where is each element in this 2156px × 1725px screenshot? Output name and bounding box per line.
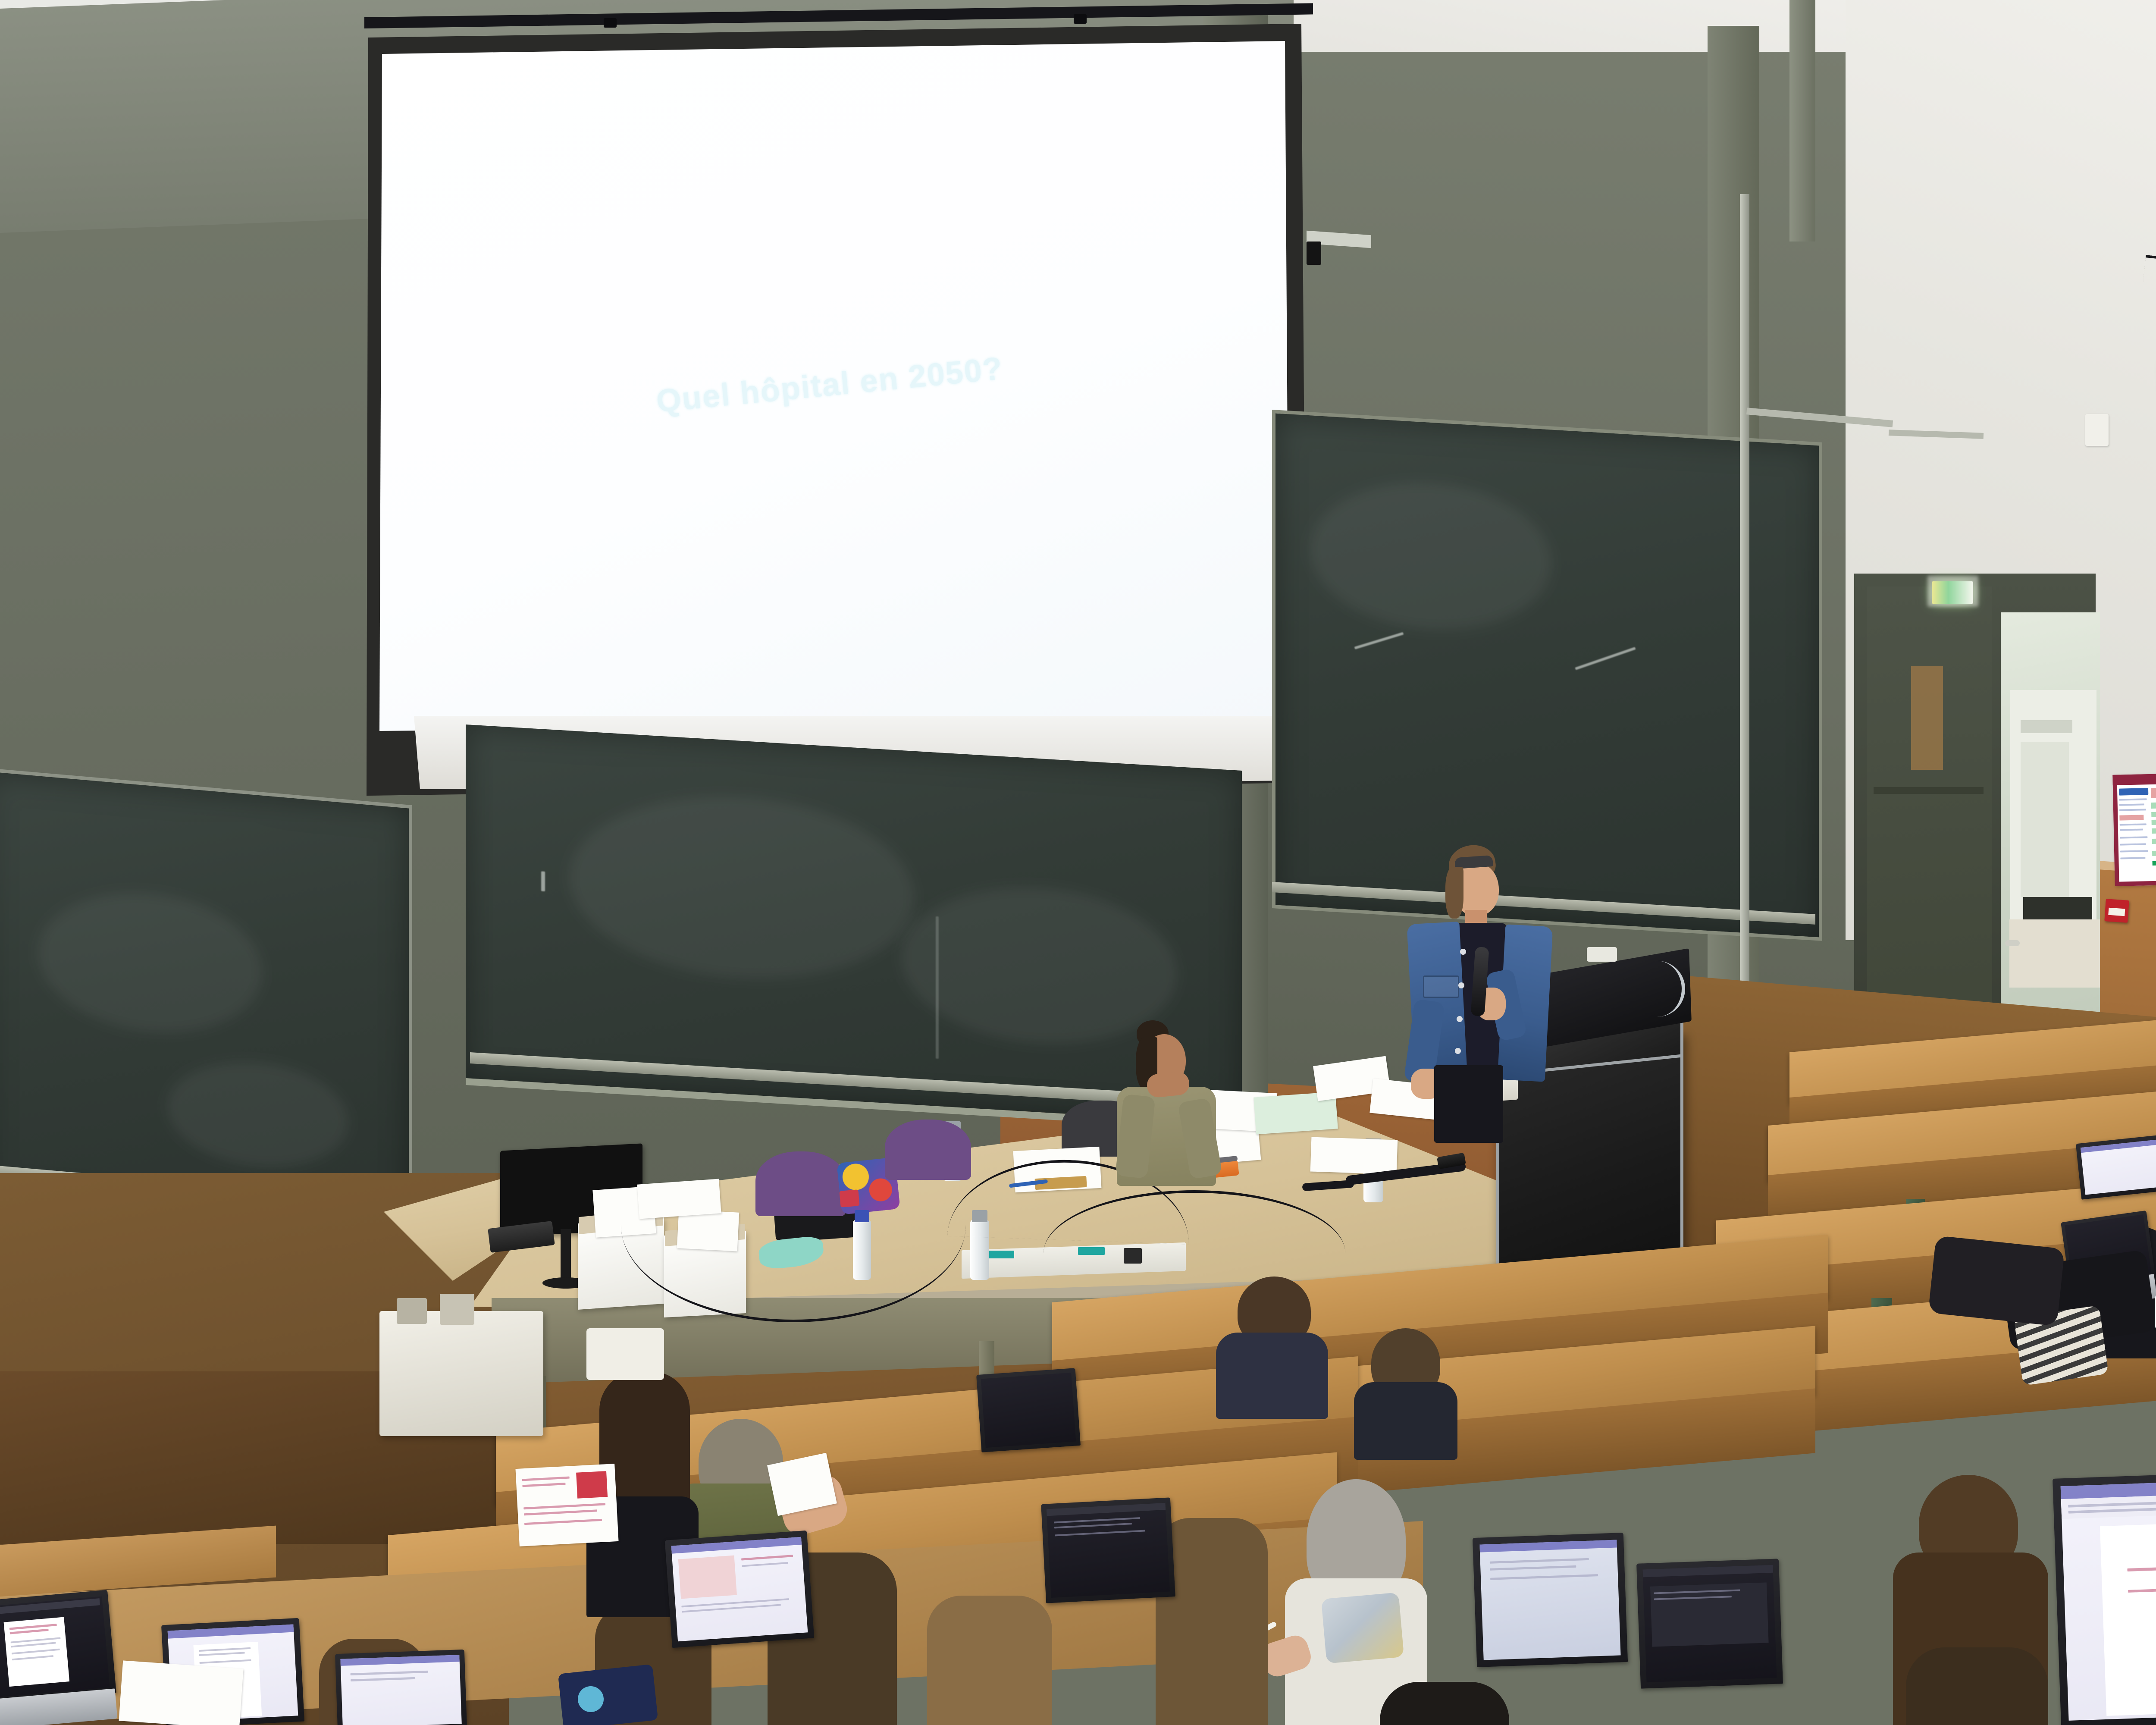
paper-left-desk [637, 1179, 721, 1219]
wall-pillar-upper-right [1789, 0, 1815, 241]
presenter-camera [1587, 947, 1617, 962]
pencil-pouch-foreground [558, 1664, 658, 1725]
laptop-lid-r13[interactable] [2076, 1133, 2156, 1199]
poster-safety-instructions [2112, 773, 2156, 886]
screen-roller-bracket-right [1074, 14, 1087, 24]
presenter-hair-side [1445, 867, 1463, 919]
chalkboard-left [0, 768, 412, 1235]
projector-lens [1307, 241, 1321, 265]
audience-head-14 [1906, 1647, 2048, 1725]
white-board-panel [586, 1328, 664, 1380]
audience-head-10 [927, 1596, 1052, 1725]
cabinet-item-1 [397, 1298, 427, 1324]
laptop-lid-c8[interactable] [1636, 1559, 1783, 1688]
audience-body-16 [1354, 1382, 1457, 1460]
desk-power-panel-tag [987, 1251, 1014, 1258]
cabinet-item-2 [440, 1294, 474, 1325]
presenter-jacket-button-1 [1460, 949, 1466, 955]
handout-left [515, 1464, 618, 1546]
purple-chair-center[interactable] [885, 1120, 971, 1180]
presenter-jacket-button-4 [1455, 1048, 1461, 1054]
water-bottle-left-cap [855, 1210, 869, 1222]
audience-head-13 [1380, 1682, 1509, 1725]
coat-draped-l1 [1928, 1236, 2065, 1326]
laptop-lid-c7[interactable] [1473, 1533, 1628, 1667]
laptop-lid-l4[interactable] [665, 1531, 815, 1648]
light-switch-plate[interactable] [2085, 414, 2109, 446]
laptop-lid-r9[interactable] [2053, 1471, 2156, 1725]
presenter-jacket-pocket [1423, 975, 1459, 998]
presenter-jacket-button-3 [1457, 1016, 1463, 1022]
laptop-lid-c5[interactable] [1041, 1497, 1175, 1603]
fire-alarm-call-point[interactable] [2104, 899, 2129, 923]
presenter-jacket-button-2 [1458, 982, 1464, 988]
red-pouch [839, 1189, 859, 1207]
white-storage-cabinet [379, 1311, 543, 1436]
audience-body-15 [1216, 1333, 1328, 1419]
document-stack-far-right [1310, 1137, 1398, 1175]
audience-scarf [1321, 1592, 1404, 1663]
wall-conduit [1740, 194, 1749, 1005]
laptop-lid-bl[interactable] [0, 1590, 116, 1705]
door-handle[interactable] [2005, 940, 2020, 946]
paper-foreground [119, 1660, 243, 1725]
laptop-lid-bl3[interactable] [335, 1650, 467, 1725]
screen-roller-bracket-left [604, 18, 617, 28]
door-leaf[interactable] [1867, 586, 1992, 1018]
presenter-legs [1434, 1065, 1503, 1143]
door-push-bar[interactable] [1874, 787, 1984, 794]
door-sidelight-glass [2001, 612, 2100, 1018]
pouch-badge [578, 1686, 604, 1712]
laptop-lid-c6[interactable] [976, 1368, 1081, 1452]
door-kickplate [1911, 666, 1943, 770]
lecture-hall-photo: Quel hôpital en 2050? [0, 0, 2156, 1725]
exit-sign-glow [1927, 576, 1978, 607]
desktop-monitor-stand [561, 1229, 571, 1281]
purple-chair-left[interactable] [755, 1151, 846, 1216]
